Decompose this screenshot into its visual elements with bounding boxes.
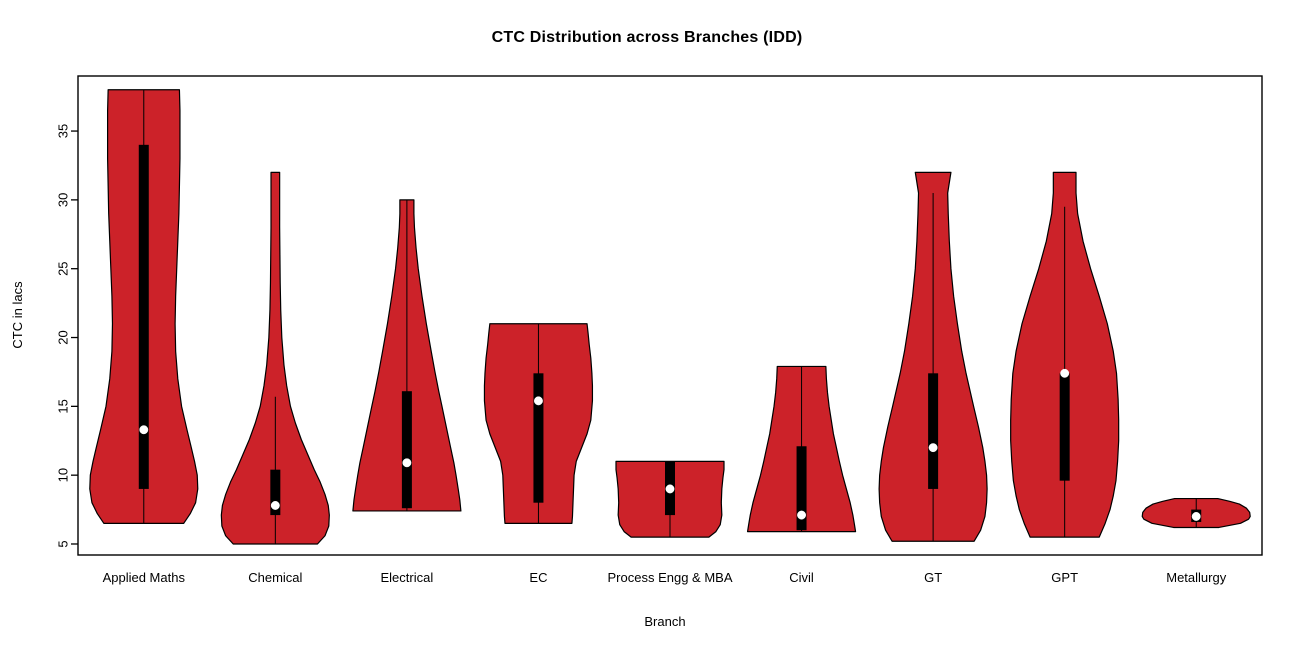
x-tick-label: Applied Maths (103, 570, 186, 585)
iqr-box (1060, 373, 1070, 480)
y-axis-label: CTC in lacs (10, 281, 25, 349)
x-tick-label: Metallurgy (1166, 570, 1226, 585)
violin-chart-figure: CTC Distribution across Branches (IDD) C… (0, 0, 1294, 653)
page-title: CTC Distribution across Branches (IDD) (492, 29, 803, 46)
y-tick-label: 30 (55, 193, 70, 207)
violin-process-engg-mba (616, 461, 724, 537)
median-point (1060, 369, 1068, 377)
x-tick-label: Chemical (248, 570, 302, 585)
x-tick-label: GT (924, 570, 942, 585)
median-point (666, 485, 674, 493)
median-point (140, 426, 148, 434)
x-axis: Applied MathsChemicalElectricalECProcess… (103, 570, 1227, 585)
median-point (797, 511, 805, 519)
y-tick-label: 10 (55, 468, 70, 482)
y-tick-label: 5 (55, 540, 70, 547)
x-tick-label: Civil (789, 570, 814, 585)
x-tick-label: Process Engg & MBA (608, 570, 733, 585)
median-point (403, 459, 411, 467)
iqr-box (139, 145, 149, 489)
iqr-box (402, 391, 412, 508)
x-tick-label: Electrical (381, 570, 434, 585)
y-tick-label: 25 (55, 261, 70, 275)
y-tick-label: 15 (55, 399, 70, 413)
median-point (1192, 512, 1200, 520)
median-point (271, 501, 279, 509)
y-tick-label: 20 (55, 330, 70, 344)
median-point (534, 397, 542, 405)
x-axis-label: Branch (644, 614, 685, 629)
iqr-box (533, 373, 543, 502)
y-tick-label: 35 (55, 124, 70, 138)
chart-canvas: CTC Distribution across Branches (IDD) C… (0, 0, 1294, 653)
median-point (929, 443, 937, 451)
x-tick-label: EC (529, 570, 547, 585)
iqr-box (928, 373, 938, 489)
x-tick-label: GPT (1051, 570, 1078, 585)
violin-metallurgy (1142, 499, 1250, 528)
